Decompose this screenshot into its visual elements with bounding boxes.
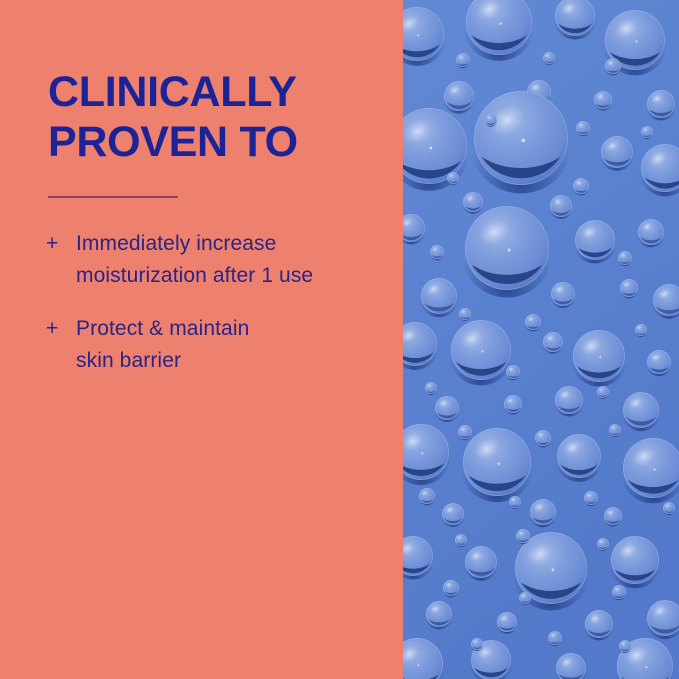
copy-panel: CLINICALLY PROVEN TO + Immediately incre…	[0, 0, 403, 679]
water-droplet-image	[403, 0, 679, 679]
water-droplet	[554, 0, 596, 40]
droplet-texture	[403, 0, 679, 679]
benefit-text: Protect & maintain skin barrier	[76, 313, 249, 376]
plus-icon: +	[46, 313, 76, 345]
divider-rule	[48, 196, 178, 198]
list-item: + Immediately increase moisturization af…	[46, 228, 391, 291]
list-item: + Protect & maintain skin barrier	[46, 313, 391, 376]
benefits-list: + Immediately increase moisturization af…	[46, 228, 391, 398]
benefit-text: Immediately increase moisturization afte…	[76, 228, 313, 291]
promo-graphic: CLINICALLY PROVEN TO + Immediately incre…	[0, 0, 679, 679]
plus-icon: +	[46, 228, 76, 260]
page-title: CLINICALLY PROVEN TO	[48, 68, 378, 168]
